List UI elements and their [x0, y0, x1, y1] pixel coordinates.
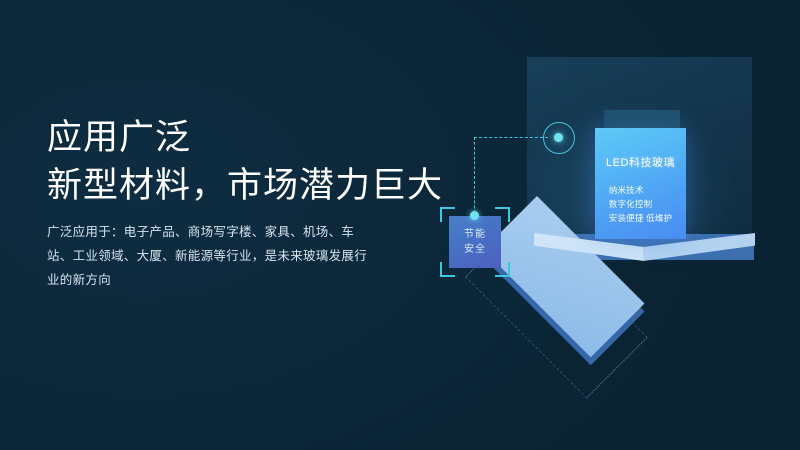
glass-panel: LED科技玻璃 纳米技术 数字化控制 安装便捷 低维护 [595, 128, 686, 239]
badge-label-line-2: 安全 [464, 242, 486, 257]
glass-panel-feature-list: 纳米技术 数字化控制 安装便捷 低维护 [609, 183, 672, 225]
list-item: 纳米技术 [609, 183, 672, 197]
feature-badge: 节能 安全 [440, 207, 510, 277]
list-item: 安装便捷 低维护 [609, 211, 672, 225]
body-paragraph: 广泛应用于：电子产品、商场写字楼、家具、机场、车站、工业领域、大厦、新能源等行业… [47, 220, 379, 292]
list-item: 数字化控制 [609, 197, 672, 211]
connector-line-horizontal [474, 137, 548, 138]
headline-line-2: 新型材料，市场潜力巨大 [47, 162, 443, 210]
presentation-slide: 应用广泛 新型材料，市场潜力巨大 广泛应用于：电子产品、商场写字楼、家具、机场、… [0, 0, 800, 450]
badge-body: 节能 安全 [449, 216, 501, 268]
connector-node-icon [543, 122, 575, 154]
connector-node-dot [554, 133, 563, 142]
headline-line-1: 应用广泛 [47, 114, 443, 162]
page-title: 应用广泛 新型材料，市场潜力巨大 [47, 114, 443, 210]
badge-anchor-dot [470, 211, 479, 220]
glass-panel-title: LED科技玻璃 [606, 154, 675, 170]
badge-label-line-1: 节能 [464, 227, 486, 242]
